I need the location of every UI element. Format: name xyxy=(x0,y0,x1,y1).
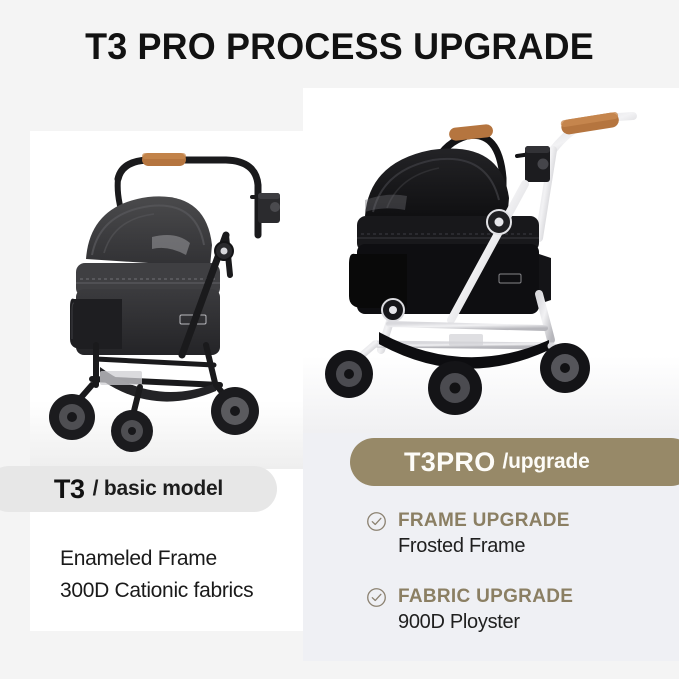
feature-frame-upgrade: FRAME UPGRADE Frosted Frame xyxy=(366,510,666,558)
right-product-model-descriptor: /upgrade xyxy=(503,450,590,474)
check-circle-icon xyxy=(366,511,387,532)
feature-frame-upgrade-detail: Frosted Frame xyxy=(398,535,666,558)
feature-fabric-upgrade-title: FABRIC UPGRADE xyxy=(398,586,573,608)
check-circle-icon xyxy=(366,587,387,608)
feature-fabric-upgrade-detail: 900D Ployster xyxy=(398,611,666,634)
feature-frame-upgrade-heading: FRAME UPGRADE xyxy=(366,510,666,532)
right-product-model: T3PRO xyxy=(404,447,496,478)
t3pro-upgrade-stroller-photo xyxy=(303,88,679,433)
left-product-model-descriptor: / basic model xyxy=(93,477,223,501)
left-spec-frame: Enameled Frame xyxy=(60,543,300,575)
feature-fabric-upgrade: FABRIC UPGRADE 900D Ployster xyxy=(366,586,666,634)
feature-frame-upgrade-title: FRAME UPGRADE xyxy=(398,510,570,532)
right-product-card xyxy=(303,88,679,433)
left-spec-fabric: 300D Cationic fabrics xyxy=(60,575,300,607)
left-product-specs: Enameled Frame 300D Cationic fabrics xyxy=(60,543,300,607)
infographic-canvas: T3 PRO PROCESS UPGRADE xyxy=(0,0,679,679)
left-product-model: T3 xyxy=(54,474,85,505)
left-product-label-pill: T3 / basic model xyxy=(0,466,277,512)
page-title: T3 PRO PROCESS UPGRADE xyxy=(10,26,669,68)
right-product-label-pill: T3PRO /upgrade xyxy=(350,438,679,486)
t3-basic-stroller-photo xyxy=(30,139,303,469)
right-product-features: FRAME UPGRADE Frosted Frame FABRIC UPGRA… xyxy=(366,510,666,662)
feature-fabric-upgrade-heading: FABRIC UPGRADE xyxy=(366,586,666,608)
